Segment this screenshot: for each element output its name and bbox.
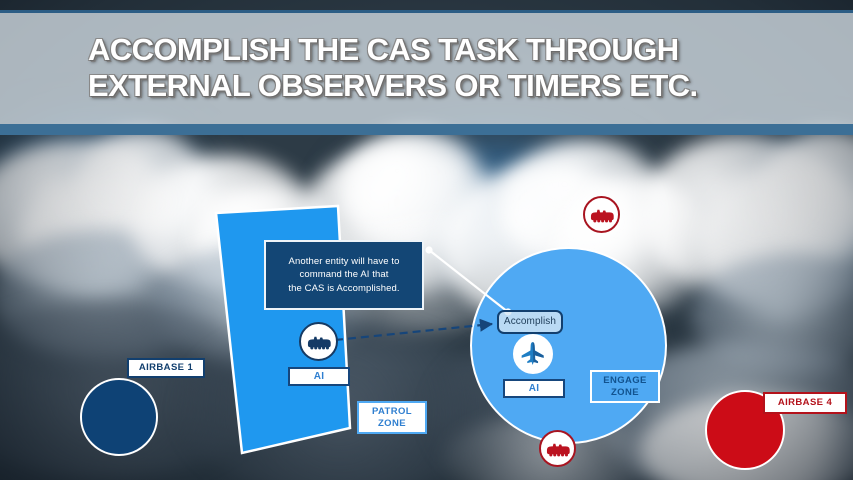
banner-bottom-rule (0, 124, 853, 135)
red-ground-unit-marker[interactable] (539, 430, 576, 467)
title-banner: ACCOMPLISH THE CAS TASK THROUGH EXTERNAL… (0, 10, 853, 135)
blue-air-unit-label: AI (503, 379, 565, 398)
blue-air-unit-marker[interactable] (513, 334, 553, 374)
blue-ground-unit-label: AI (288, 367, 350, 386)
armored-vehicle-icon (589, 207, 615, 223)
friendly-airbase-circle[interactable] (80, 378, 158, 456)
red-ground-unit-marker[interactable] (583, 196, 620, 233)
engage-zone-label: ENGAGE ZONE (590, 370, 660, 403)
banner-top-rule (0, 10, 853, 13)
blue-ground-unit-marker[interactable] (299, 322, 338, 361)
patrol-zone-label: PATROL ZONE (357, 401, 427, 434)
engage-zone-area[interactable] (470, 247, 667, 444)
armored-vehicle-icon (306, 334, 332, 350)
slide-canvas: ACCOMPLISH THE CAS TASK THROUGH EXTERNAL… (0, 0, 853, 480)
page-title: ACCOMPLISH THE CAS TASK THROUGH EXTERNAL… (88, 32, 823, 104)
armored-vehicle-icon (545, 441, 571, 457)
callout-box: Another entity will have to command the … (264, 240, 424, 310)
fighter-jet-icon (519, 340, 547, 368)
hostile-airbase-label: AIRBASE 4 (763, 392, 847, 414)
callout-text: Another entity will have to command the … (288, 255, 399, 296)
friendly-airbase-label: AIRBASE 1 (127, 358, 205, 378)
accomplish-command-tag[interactable]: Accomplish (497, 310, 563, 334)
